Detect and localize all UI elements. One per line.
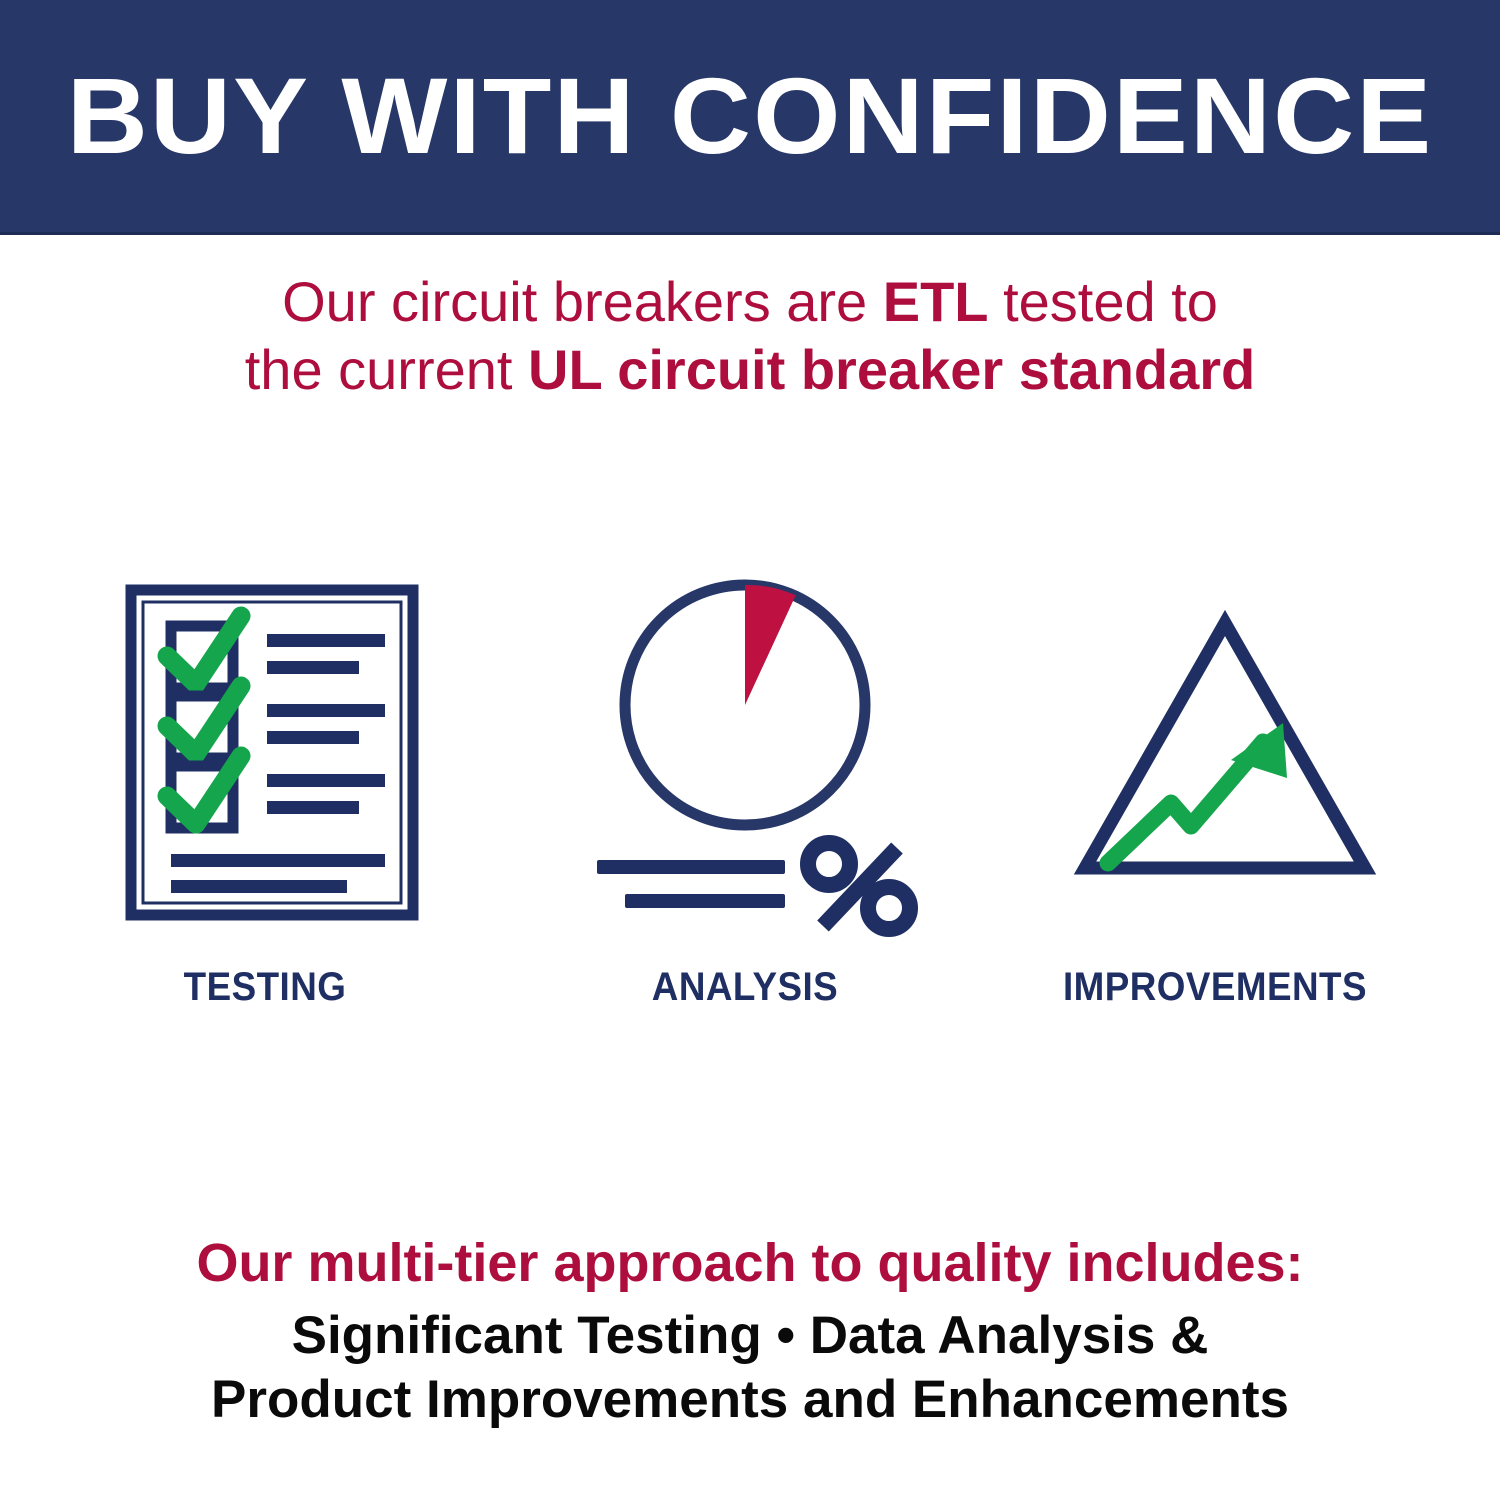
checklist-document-icon [55,560,475,950]
process-step-improvements: IMPROVEMENTS [1005,560,1425,1040]
subtitle-line-1-text-a: Our circuit breakers are [282,270,883,333]
pie-chart-percent-icon [535,560,955,950]
percent-glyph [808,843,910,929]
header-banner: BUY WITH CONFIDENCE [0,0,1500,235]
process-step-label-testing: TESTING [72,965,458,1010]
triangle-growth-arrow-icon [1005,560,1425,950]
footer-headline: Our multi-tier approach to quality inclu… [0,1232,1500,1296]
footer-block: Our multi-tier approach to quality inclu… [0,1232,1500,1433]
subtitle-line-2: the current UL circuit breaker standard [0,336,1500,404]
process-step-label-analysis: ANALYSIS [552,965,938,1010]
subtitle-etl-emphasis: ETL [883,270,988,333]
subtitle-ul-standard-emphasis: UL circuit breaker standard [528,338,1255,401]
subtitle-block: Our circuit breakers are ETL tested to t… [0,268,1500,405]
process-step-analysis: ANALYSIS [535,560,955,1040]
process-step-testing: TESTING [55,560,475,1040]
footer-detail-line-1: Significant Testing • Data Analysis & [0,1304,1500,1369]
process-step-label-improvements: IMPROVEMENTS [1022,965,1408,1010]
footer-detail-line-2: Product Improvements and Enhancements [0,1368,1500,1433]
subtitle-line-1-text-b: tested to [1003,270,1218,333]
process-icon-row: TESTING ANALYSIS I [0,560,1500,1040]
subtitle-line-2-text-a: the current [245,338,528,401]
page-title: BUY WITH CONFIDENCE [0,0,1500,232]
subtitle-line-1: Our circuit breakers are ETL tested to [0,268,1500,336]
footer-detail: Significant Testing • Data Analysis & Pr… [0,1304,1500,1433]
